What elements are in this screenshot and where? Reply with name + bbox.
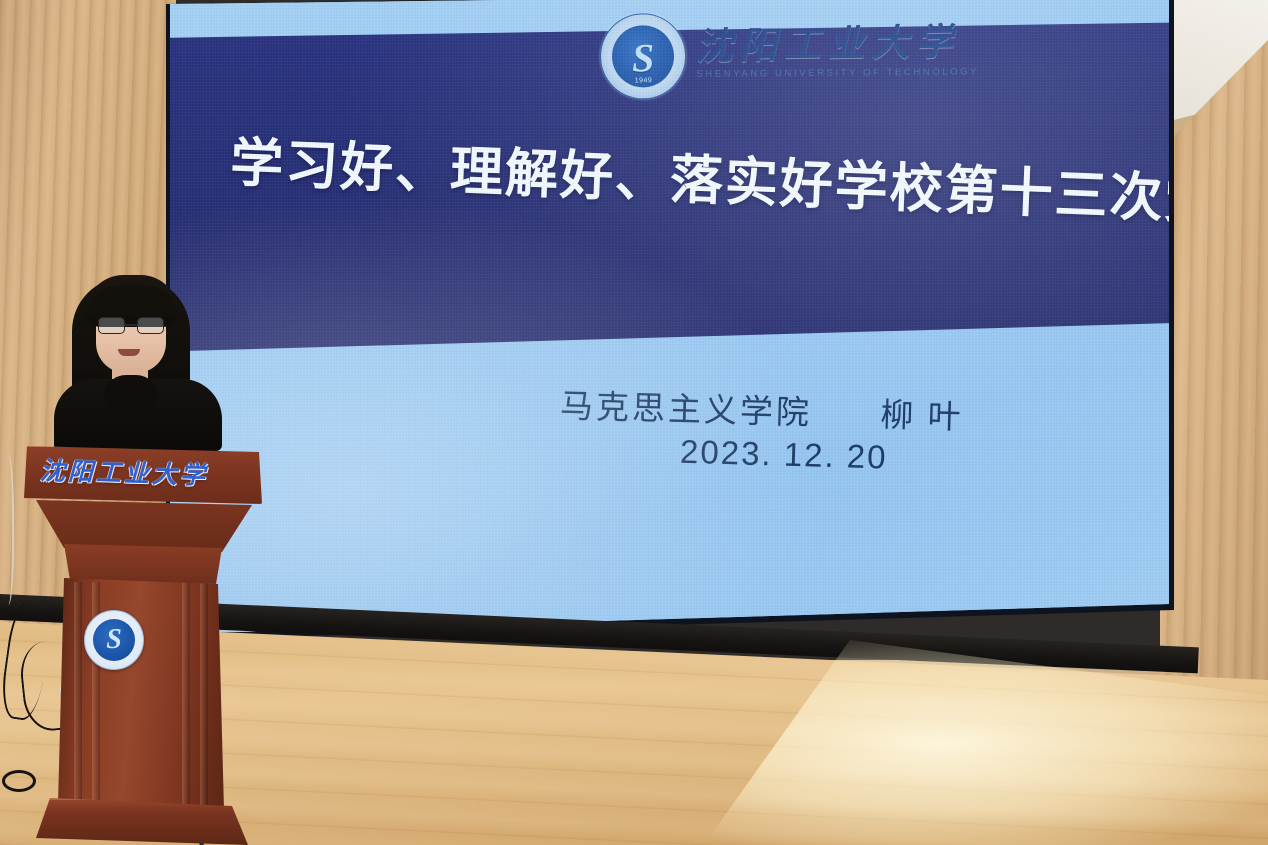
podium-name-plate: 沈阳工业大学 [40,451,251,493]
podium-neck [62,544,224,584]
collar [104,375,158,409]
screen-glare [170,0,1169,632]
podium-emblem-letter: S [85,611,143,669]
glasses-lens-left [98,317,125,334]
speaker [48,275,228,450]
mouth [118,349,140,356]
glasses-icon [98,317,164,334]
podium: 沈阳工业大学 S [10,440,270,845]
led-screen: S 1949 沈阳工业大学 SHENYANG UNIVERSITY OF TEC… [170,0,1169,632]
glasses-bridge [125,324,137,326]
podium-emblem-icon: S [84,610,144,670]
hair-fringe [92,285,172,315]
podium-column [74,582,82,806]
podium-column [182,582,190,806]
podium-column [200,582,208,806]
presentation-photo: S 1949 沈阳工业大学 SHENYANG UNIVERSITY OF TEC… [0,0,1268,845]
glasses-lens-right [137,317,164,334]
